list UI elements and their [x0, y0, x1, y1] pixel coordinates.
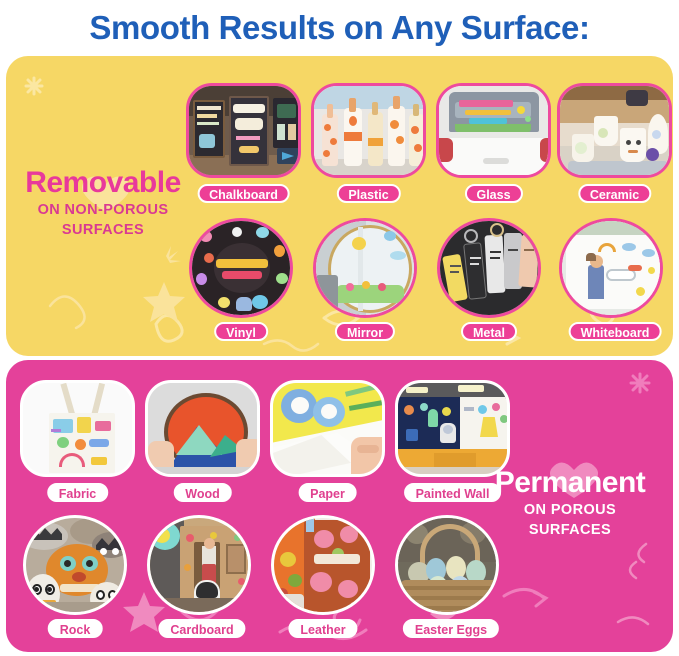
cell-wood[interactable]: Wood — [145, 380, 260, 502]
thumbnail-leather — [271, 515, 375, 615]
label-mirror: Mirror — [335, 322, 395, 341]
thumbnail-easter-eggs — [395, 515, 499, 615]
label-glass: Glass — [464, 184, 522, 203]
cell-mirror[interactable]: Mirror — [313, 218, 423, 338]
label-easter-eggs: Easter Eggs — [403, 619, 499, 638]
cell-easter-eggs[interactable]: Easter Eggs — [395, 515, 507, 637]
cell-whiteboard[interactable]: Whiteboard — [559, 218, 671, 338]
label-rock: Rock — [48, 619, 103, 638]
removable-subtitle-line1: ON NON-POROUS — [8, 202, 198, 219]
cell-glass[interactable]: Glass — [436, 83, 551, 203]
cell-paper[interactable]: Paper — [270, 380, 385, 502]
removable-caption: Removable ON NON-POROUS SURFACES — [8, 168, 198, 239]
label-vinyl: Vinyl — [214, 322, 268, 341]
label-whiteboard: Whiteboard — [569, 322, 662, 341]
cell-ceramic[interactable]: Ceramic — [557, 83, 672, 203]
thumbnail-vinyl — [189, 218, 293, 318]
page-title: Smooth Results on Any Surface: — [89, 9, 589, 47]
section-permanent: Permanent ON POROUS SURFACES — [6, 360, 673, 652]
cell-vinyl[interactable]: Vinyl — [189, 218, 299, 338]
thumbnail-whiteboard — [559, 218, 663, 318]
thumbnail-plastic — [311, 83, 426, 178]
removable-subtitle-line2: SURFACES — [8, 222, 198, 239]
cell-painted-wall[interactable]: Painted Wall — [395, 380, 510, 502]
label-painted-wall: Painted Wall — [404, 483, 502, 502]
cell-chalkboard[interactable]: Chalkboard — [186, 83, 301, 203]
thumbnail-fabric — [20, 380, 135, 477]
label-ceramic: Ceramic — [578, 184, 651, 203]
label-cardboard: Cardboard — [158, 619, 245, 638]
thumbnail-cardboard — [147, 515, 251, 615]
cell-fabric[interactable]: Fabric — [20, 380, 135, 502]
cell-metal[interactable]: Metal — [437, 218, 547, 338]
thumbnail-wood — [145, 380, 260, 477]
label-leather: Leather — [288, 619, 357, 638]
label-fabric: Fabric — [47, 483, 109, 502]
infographic-page: Smooth Results on Any Surface: — [0, 0, 679, 656]
thumbnail-glass — [436, 83, 551, 178]
label-metal: Metal — [461, 322, 517, 341]
thumbnail-paper — [270, 380, 385, 477]
cell-rock[interactable]: Rock — [23, 515, 133, 637]
page-title-bar: Smooth Results on Any Surface: — [0, 0, 679, 56]
thumbnail-metal — [437, 218, 541, 318]
thumbnail-rock — [23, 515, 127, 615]
label-plastic: Plastic — [336, 184, 400, 203]
thumbnail-painted-wall — [395, 380, 510, 477]
cell-plastic[interactable]: Plastic — [311, 83, 426, 203]
thumbnail-ceramic — [557, 83, 672, 178]
label-wood: Wood — [173, 483, 231, 502]
cell-cardboard[interactable]: Cardboard — [147, 515, 257, 637]
cell-leather[interactable]: Leather — [271, 515, 381, 637]
thumbnail-chalkboard — [186, 83, 301, 178]
label-paper: Paper — [298, 483, 357, 502]
section-removable: Removable ON NON-POROUS SURFACES — [6, 56, 673, 356]
label-chalkboard: Chalkboard — [197, 184, 290, 203]
removable-title: Removable — [8, 168, 198, 199]
thumbnail-mirror — [313, 218, 417, 318]
